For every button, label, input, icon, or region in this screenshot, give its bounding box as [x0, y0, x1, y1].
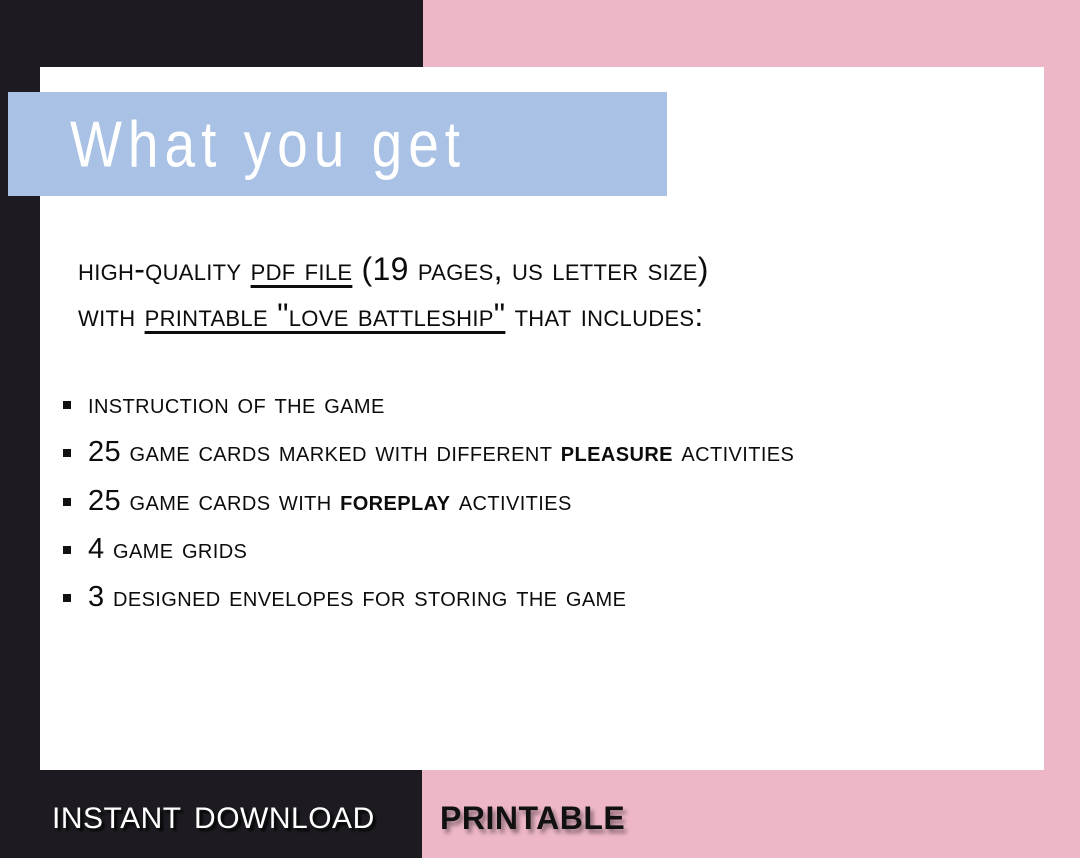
list-item: 4 game grids: [60, 533, 1020, 566]
list-item: 25 game cards with FOREPLAY activities: [60, 485, 1020, 518]
header-banner: What you get: [8, 92, 667, 196]
promo-graphic: What you get High-quality PDF file (19 p…: [0, 0, 1080, 858]
list-item: 3 designed envelopes for storing the gam…: [60, 581, 1020, 614]
list-item-pre: Instruction of the game: [88, 388, 385, 420]
list-item: 25 game cards marked with different PLEA…: [60, 436, 1020, 469]
lede-line-2: with printable "Love Battleship" that in…: [78, 292, 978, 338]
lede-line2-pre: with: [78, 297, 145, 333]
list-item-pre: 25 game cards with: [88, 485, 340, 517]
list-item: Instruction of the game: [60, 388, 1020, 421]
list-item-strong: FOREPLAY: [340, 485, 450, 517]
lede-line-1: High-quality PDF file (19 pages, US lett…: [78, 246, 978, 292]
list-item-post: activities: [673, 436, 794, 468]
page-title: What you get: [70, 112, 466, 177]
lede-paragraph: High-quality PDF file (19 pages, US lett…: [78, 246, 978, 339]
list-item-pre: 3 designed envelopes for storing the gam…: [88, 581, 626, 613]
list-item-pre: 4 game grids: [88, 533, 247, 565]
list-item-strong: PLEASURE: [561, 436, 673, 468]
lede-line1-underlined: PDF file: [251, 251, 353, 287]
list-item-post: activities: [450, 485, 571, 517]
lede-line2-underlined: printable "Love Battleship": [145, 297, 506, 333]
lede-line2-post: that includes:: [505, 297, 703, 333]
feature-list: Instruction of the game 25 game cards ma…: [60, 388, 1020, 630]
footer-instant-download-label: Instant download: [52, 793, 375, 836]
list-item-pre: 25 game cards marked with different: [88, 436, 561, 468]
lede-line1-pre: High-quality: [78, 251, 251, 287]
footer-printable-label: Printable: [440, 791, 625, 836]
lede-line1-post: (19 pages, US letter size): [352, 251, 708, 287]
background-dark-left-strip: [0, 180, 40, 780]
